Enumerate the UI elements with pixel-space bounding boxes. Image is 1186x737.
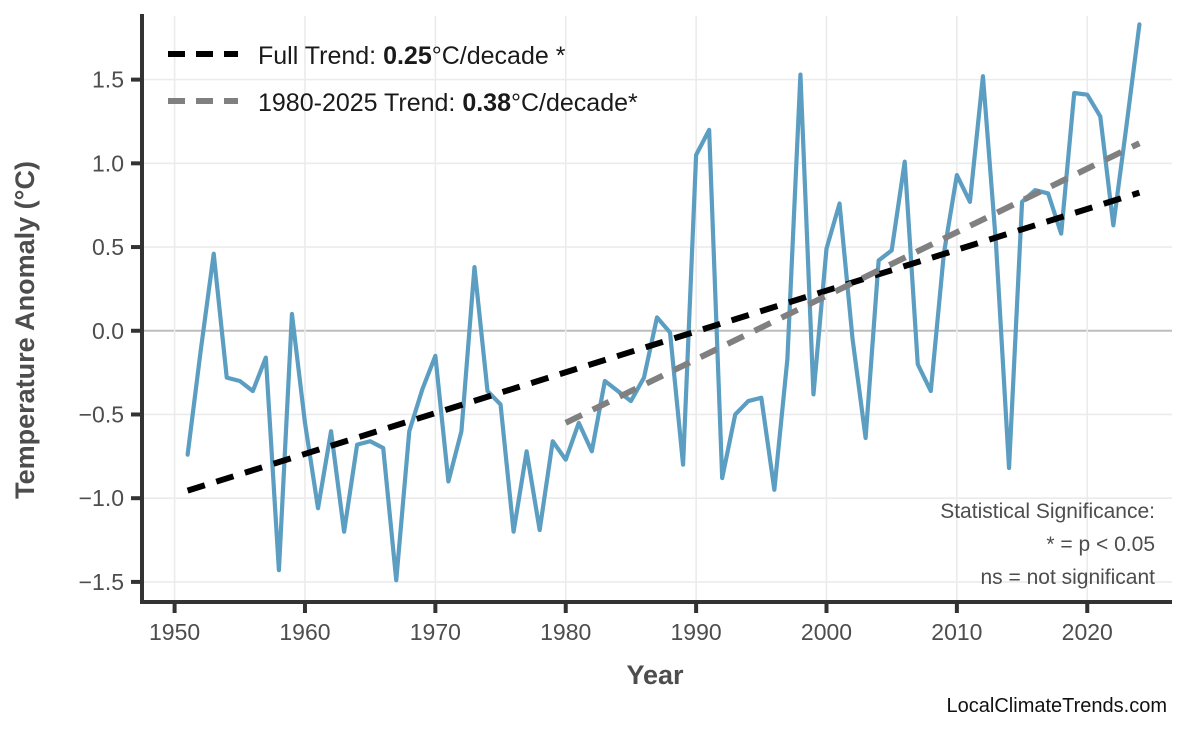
x-tick-label: 1960	[279, 619, 330, 645]
y-tick-label: −1.0	[79, 485, 124, 511]
x-tick-label: 1950	[149, 619, 200, 645]
x-tick-label: 1990	[671, 619, 722, 645]
significance-heading: Statistical Significance:	[940, 500, 1155, 523]
x-tick-label: 2020	[1062, 619, 1113, 645]
y-tick-label: −1.5	[79, 569, 124, 595]
significance-annotation: Statistical Significance: * = p < 0.05 n…	[940, 500, 1155, 589]
full-trend-legend-label: Full Trend: 0.25°C/decade *	[258, 42, 566, 70]
x-axis-title: Year	[626, 660, 684, 690]
y-tick-label: 1.5	[92, 67, 124, 93]
y-tick-label: 1.0	[92, 150, 124, 176]
y-axis-tick-labels: 1.51.00.50.0−0.5−1.0−1.5	[79, 67, 124, 595]
significance-ns-note: ns = not significant	[980, 566, 1155, 589]
x-axis-tick-labels: 19501960197019801990200020102020	[149, 619, 1113, 645]
site-caption: LocalClimateTrends.com	[947, 695, 1167, 717]
y-tick-label: −0.5	[79, 401, 124, 427]
y-tick-label: 0.0	[92, 318, 124, 344]
y-tick-label: 0.5	[92, 234, 124, 260]
significance-star-note: * = p < 0.05	[1046, 533, 1155, 556]
x-tick-label: 1970	[410, 619, 461, 645]
y-axis-title: Temperature Anomaly (°C)	[10, 161, 40, 499]
x-tick-label: 1980	[540, 619, 591, 645]
recent-trend-legend-label: 1980-2025 Trend: 0.38°C/decade*	[258, 89, 638, 117]
x-tick-label: 2000	[801, 619, 852, 645]
chart-canvas: 19501960197019801990200020102020 1.51.00…	[0, 0, 1186, 737]
x-tick-label: 2010	[931, 619, 982, 645]
climate-line-chart: 19501960197019801990200020102020 1.51.00…	[0, 0, 1186, 737]
